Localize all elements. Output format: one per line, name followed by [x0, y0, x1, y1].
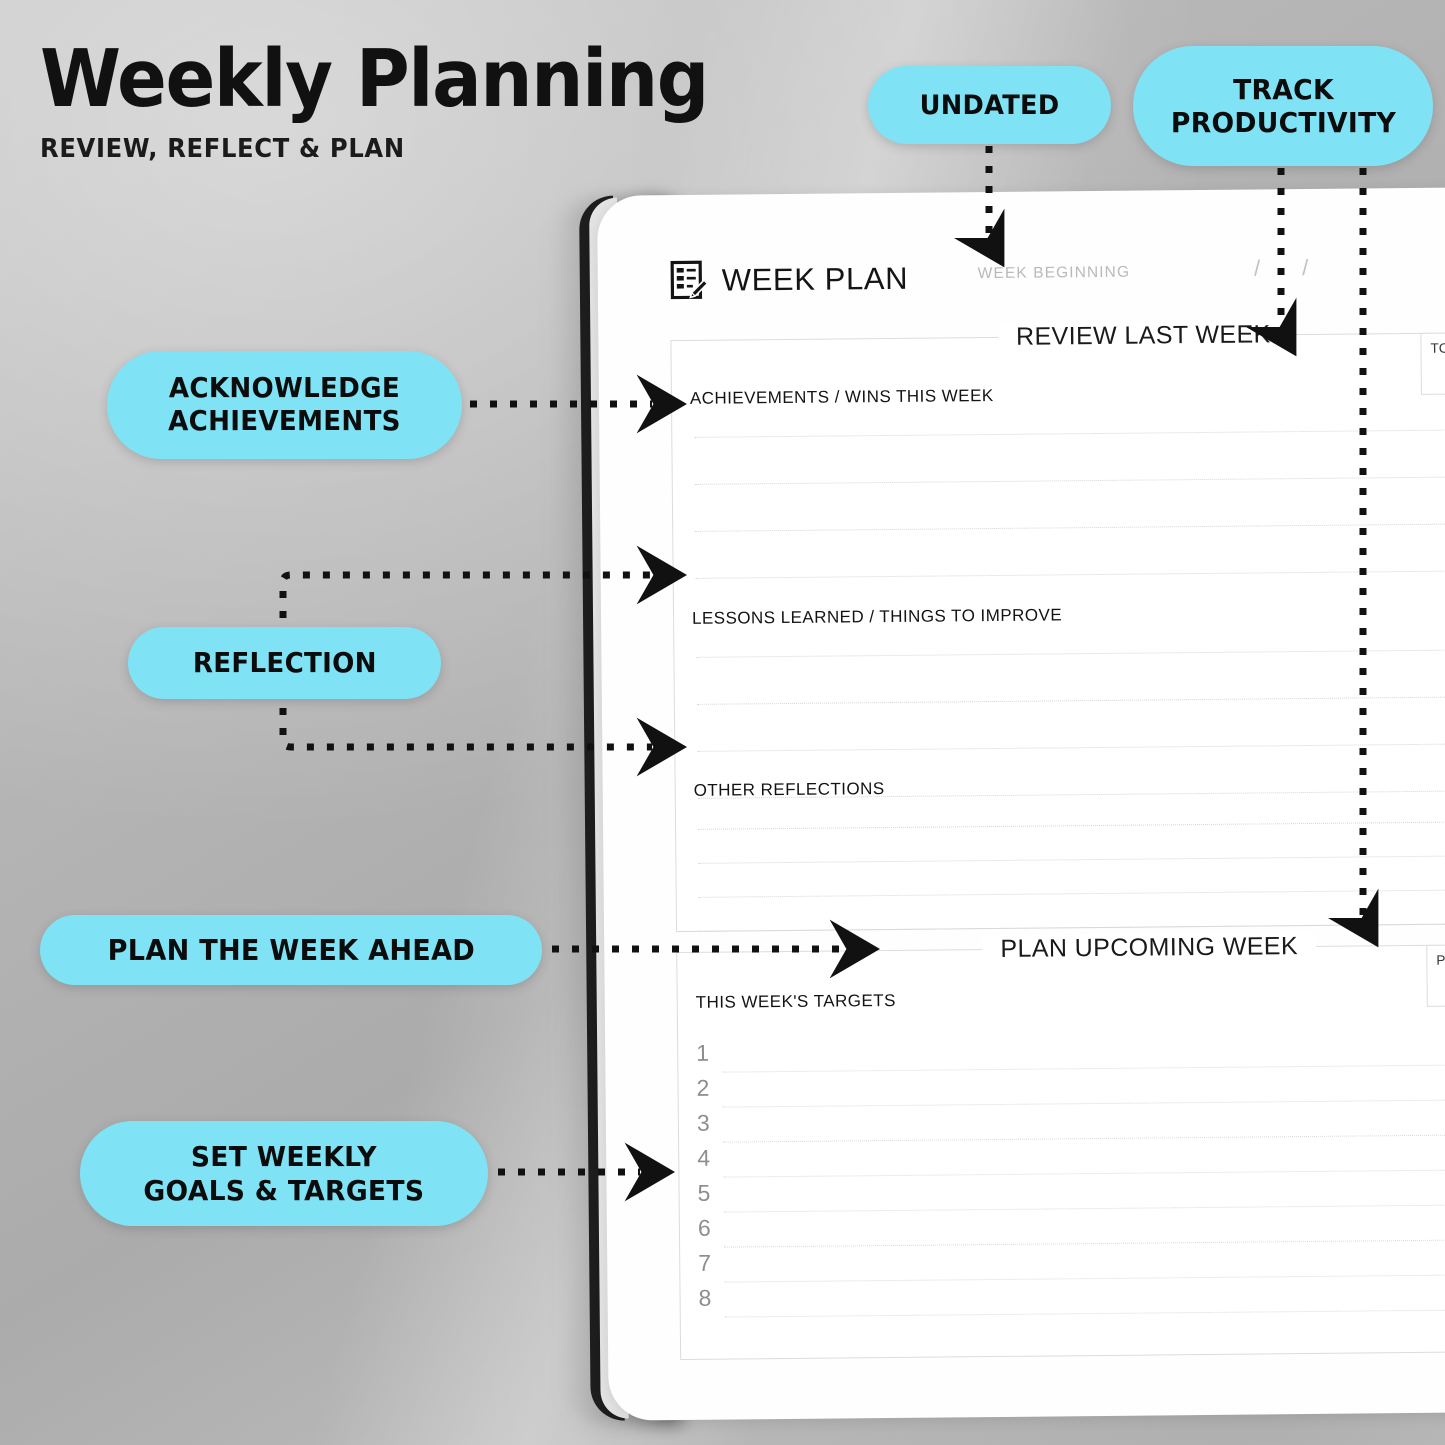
week-beginning-field[interactable]: WEEK BEGINNING / / [978, 255, 1309, 284]
date-separator-1: / [1254, 255, 1260, 281]
callout-undated-label: UNDATED [920, 90, 1060, 121]
callout-track-productivity[interactable]: TRACK PRODUCTIVITY [1133, 46, 1433, 166]
target-number: 8 [698, 1285, 724, 1312]
notebook-mockup: WEEK PLAN WEEK BEGINNING / / REVIEW LAST… [575, 186, 1445, 1421]
week-beginning-label: WEEK BEGINNING [978, 264, 1131, 283]
this-weeks-targets-label: THIS WEEK'S TARGETS [696, 991, 896, 1013]
section-plan-upcoming-week: PLAN UPCOMING WEEK PRODUCTIVITY SCORE GO… [676, 943, 1445, 1360]
date-separator-2: / [1302, 255, 1308, 281]
callout-ack-line2: ACHIEVEMENTS [168, 405, 401, 438]
callout-plan-the-week-ahead[interactable]: PLAN THE WEEK AHEAD [40, 915, 542, 985]
write-line[interactable] [699, 888, 1445, 898]
callout-plan-label: PLAN THE WEEK AHEAD [107, 934, 474, 967]
total-productivity-score-box[interactable]: TOTAL PRODUCTIVITY SCORE: [1420, 331, 1445, 395]
section-title-review: REVIEW LAST WEEK [671, 317, 1445, 355]
callout-goals-line1: SET WEEKLY [144, 1140, 425, 1174]
write-line[interactable] [694, 428, 1445, 438]
callout-undated[interactable]: UNDATED [868, 66, 1111, 144]
target-number: 7 [698, 1250, 724, 1277]
productivity-score-goal-box[interactable]: PRODUCTIVITY SCORE GOAL: [1426, 943, 1445, 1007]
target-number: 6 [698, 1215, 724, 1242]
write-line[interactable] [697, 695, 1445, 705]
write-line[interactable] [699, 922, 1445, 932]
write-line[interactable] [698, 854, 1445, 864]
page-title: Weekly Planning [40, 42, 708, 118]
callout-track-line2: PRODUCTIVITY [1170, 106, 1395, 139]
callout-reflection[interactable]: REFLECTION [128, 627, 441, 699]
section-review-last-week: REVIEW LAST WEEK TOTAL PRODUCTIVITY SCOR… [670, 331, 1445, 932]
section-title-plan: PLAN UPCOMING WEEK [677, 929, 1445, 967]
target-number: 4 [697, 1145, 723, 1172]
write-line[interactable] [696, 569, 1445, 579]
callout-acknowledge-achievements[interactable]: ACKNOWLEDGE ACHIEVEMENTS [107, 351, 462, 459]
target-number: 3 [697, 1110, 723, 1137]
planner-title: WEEK PLAN [722, 261, 909, 299]
title-block: Weekly Planning REVIEW, REFLECT & PLAN [40, 42, 758, 164]
callout-ack-line1: ACKNOWLEDGE [168, 372, 401, 405]
target-number: 5 [697, 1180, 723, 1207]
field-label-other-reflections: OTHER REFLECTIONS [694, 779, 885, 801]
target-number: 1 [696, 1040, 722, 1067]
total-productivity-score-label: TOTAL PRODUCTIVITY SCORE: [1430, 339, 1445, 356]
field-label-achievements: ACHIEVEMENTS / WINS THIS WEEK [690, 386, 994, 409]
write-line[interactable] [697, 742, 1445, 752]
clipboard-pencil-icon [670, 260, 708, 302]
page-subtitle: REVIEW, REFLECT & PLAN [40, 134, 722, 164]
callout-goals-line2: GOALS & TARGETS [144, 1174, 425, 1208]
target-row[interactable]: 1 [696, 1034, 1445, 1077]
notebook-page: WEEK PLAN WEEK BEGINNING / / REVIEW LAST… [597, 186, 1445, 1421]
callout-track-line1: TRACK [1170, 73, 1395, 106]
productivity-score-goal-label: PRODUCTIVITY SCORE GOAL: [1436, 951, 1445, 968]
target-write-line[interactable] [725, 1308, 1445, 1318]
write-line[interactable] [696, 648, 1445, 658]
write-line[interactable] [695, 475, 1445, 485]
callout-reflection-label: REFLECTION [193, 647, 377, 679]
field-label-lessons-learned: LESSONS LEARNED / THINGS TO IMPROVE [692, 605, 1062, 629]
callout-set-weekly-goals[interactable]: SET WEEKLY GOALS & TARGETS [80, 1121, 488, 1226]
write-line[interactable] [695, 522, 1445, 532]
write-line[interactable] [698, 820, 1445, 830]
target-number: 2 [696, 1075, 722, 1102]
